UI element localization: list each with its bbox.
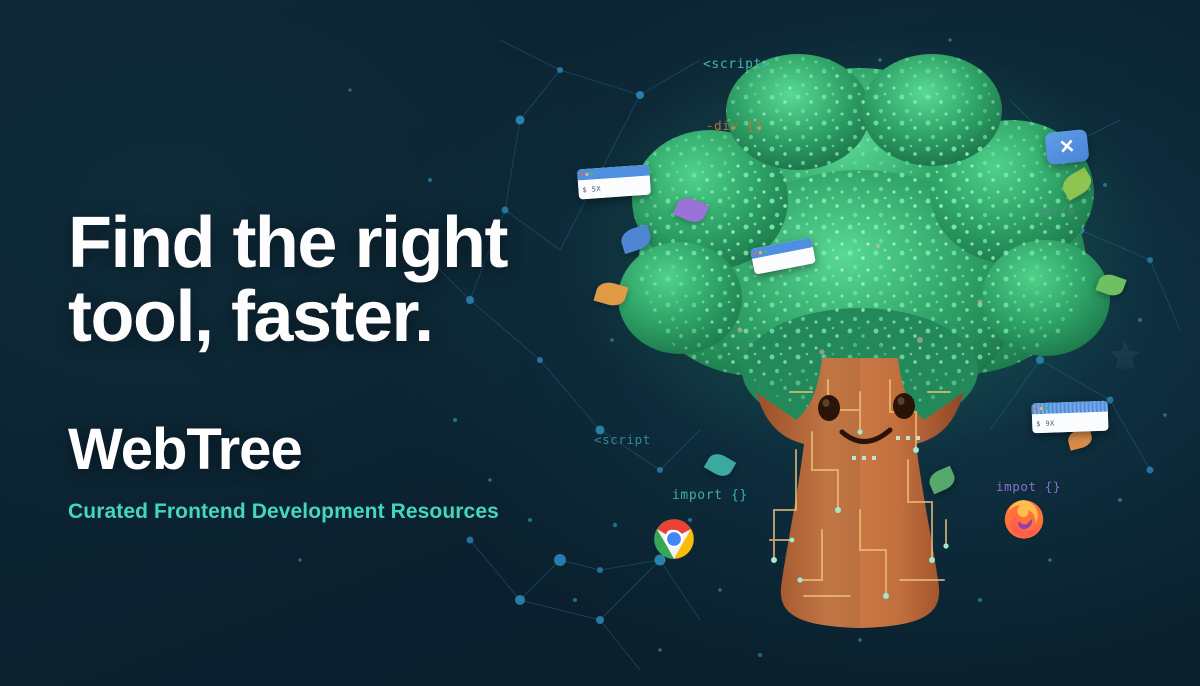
code-snippet-impot: impot {}: [996, 479, 1061, 494]
browser-card-body: $ 9X: [1032, 412, 1109, 434]
firefox-icon: [1002, 496, 1046, 540]
brand-tagline: Curated Frontend Development Resources: [68, 500, 588, 524]
maximize-dot-icon: [1045, 407, 1048, 410]
maximize-dot-icon: [764, 250, 768, 254]
chrome-icon: [653, 518, 695, 560]
browser-card-text: $ 5X: [582, 184, 601, 193]
close-dot-icon: [580, 173, 583, 176]
minimize-dot-icon: [759, 250, 763, 254]
page-title: Find the right tool, faster.: [68, 206, 588, 354]
brand-name: WebTree: [68, 416, 588, 483]
hero-banner: Find the right tool, faster. WebTree Cur…: [0, 0, 1200, 686]
minimize-dot-icon: [1040, 407, 1043, 410]
tree-illustration: [560, 40, 1180, 660]
browser-window-card: $ 5X: [577, 165, 651, 200]
maximize-dot-icon: [590, 172, 593, 175]
browser-card-text: $ 9X: [1036, 419, 1055, 428]
code-snippet-div: -div {}: [706, 118, 763, 133]
close-dot-icon: [1035, 407, 1038, 410]
code-snippet-import: import {}: [672, 488, 748, 503]
x-app-icon: ✕: [1044, 129, 1089, 165]
code-snippet-br: <br/>: [1036, 204, 1075, 218]
code-snippet-script-top: <script>: [703, 57, 770, 72]
dark-star-icon: [1108, 338, 1142, 372]
browser-window-card: $ 9X: [1031, 401, 1108, 434]
minimize-dot-icon: [585, 173, 588, 176]
code-snippet-script-mid: <script: [594, 432, 651, 447]
hero-copy: Find the right tool, faster. WebTree Cur…: [68, 206, 588, 524]
close-dot-icon: [754, 251, 758, 255]
